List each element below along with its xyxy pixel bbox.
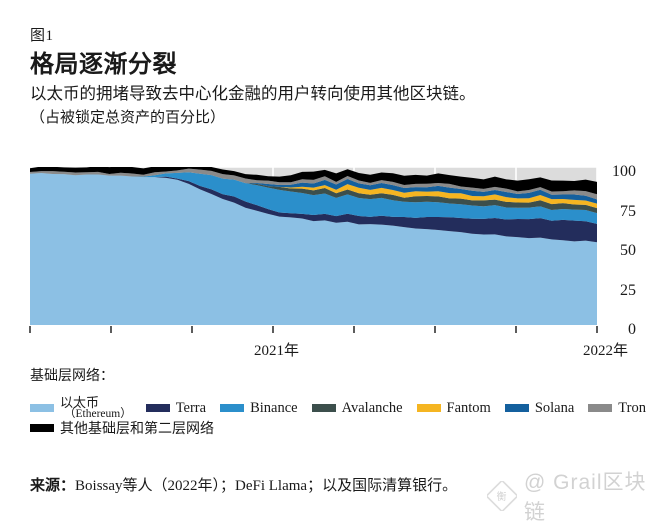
legend-item-tron[interactable]: Tron (588, 401, 646, 416)
source-prefix: 来源： (30, 477, 75, 494)
legend-swatch-other (30, 424, 54, 432)
watermark: 衡 @ Grail区块链 (487, 466, 665, 526)
figure-label: 图1 (30, 24, 54, 45)
legend-label-tron: Tron (618, 401, 646, 416)
legend-label-solana: Solana (535, 401, 574, 416)
source-text: Boissay等人（2022年）；DeFi Llama；以及国际清算银行。 (75, 478, 457, 494)
y-axis-tick-label: 25 (598, 282, 636, 300)
legend-label-other: 其他基础层和第二层网络 (60, 421, 214, 436)
legend-item-ethereum[interactable]: 以太币（Ethereum） (30, 396, 132, 421)
svg-text:衡: 衡 (497, 491, 508, 503)
legend-item-fantom[interactable]: Fantom (417, 401, 491, 416)
figure-page: 图1 格局逐渐分裂 以太币的拥堵导致去中心化金融的用户转向使用其他区块链。 （占… (0, 0, 665, 513)
legend-label-fantom: Fantom (447, 401, 491, 416)
legend-swatch-binance (220, 404, 244, 412)
legend-swatch-terra (146, 404, 170, 412)
y-axis-tick-label: 100 (598, 163, 636, 181)
x-axis-label-2022: 2022年 (583, 339, 628, 360)
legend-swatch-fantom (417, 404, 441, 412)
legend-row-primary: 以太币（Ethereum）TerraBinanceAvalancheFantom… (30, 396, 660, 421)
chart-units-label: （占被锁定总资产的百分比） (30, 106, 225, 127)
legend-item-other[interactable]: 其他基础层和第二层网络 (30, 421, 214, 436)
legend-label-avalanche: Avalanche (342, 401, 403, 416)
page-subtitle: 以太币的拥堵导致去中心化金融的用户转向使用其他区块链。 (30, 80, 476, 104)
legend-label-ethereum: 以太币（Ethereum） (60, 396, 132, 421)
legend-heading: 基础层网络： (30, 365, 114, 385)
legend-item-avalanche[interactable]: Avalanche (312, 401, 403, 416)
plot-top-mask (30, 160, 597, 167)
legend-swatch-ethereum (30, 404, 54, 412)
legend-item-binance[interactable]: Binance (220, 401, 298, 416)
legend-swatch-tron (588, 404, 612, 412)
y-axis-tick-label: 0 (598, 321, 636, 339)
grail-logo-icon: 衡 (487, 481, 517, 511)
source-note: 来源：Boissay等人（2022年）；DeFi Llama；以及国际清算银行。 (30, 474, 457, 495)
legend-swatch-avalanche (312, 404, 336, 412)
y-axis-tick-label: 50 (598, 242, 636, 260)
watermark-text: @ Grail区块链 (524, 466, 665, 526)
x-axis-label-2021: 2021年 (254, 339, 299, 360)
chart-plot-area (0, 160, 665, 335)
legend-row-other: 其他基础层和第二层网络 (30, 421, 228, 436)
stacked-area-chart (0, 160, 665, 340)
page-title: 格局逐渐分裂 (30, 44, 177, 79)
y-axis-tick-label: 75 (598, 203, 636, 221)
legend-item-solana[interactable]: Solana (505, 401, 574, 416)
legend-label-en: （Ethereum） (60, 409, 132, 421)
y-axis-labels: 1007550250 (598, 160, 636, 330)
legend-label-terra: Terra (176, 401, 206, 416)
legend-swatch-solana (505, 404, 529, 412)
legend-item-terra[interactable]: Terra (146, 401, 206, 416)
legend-label-binance: Binance (250, 401, 298, 416)
